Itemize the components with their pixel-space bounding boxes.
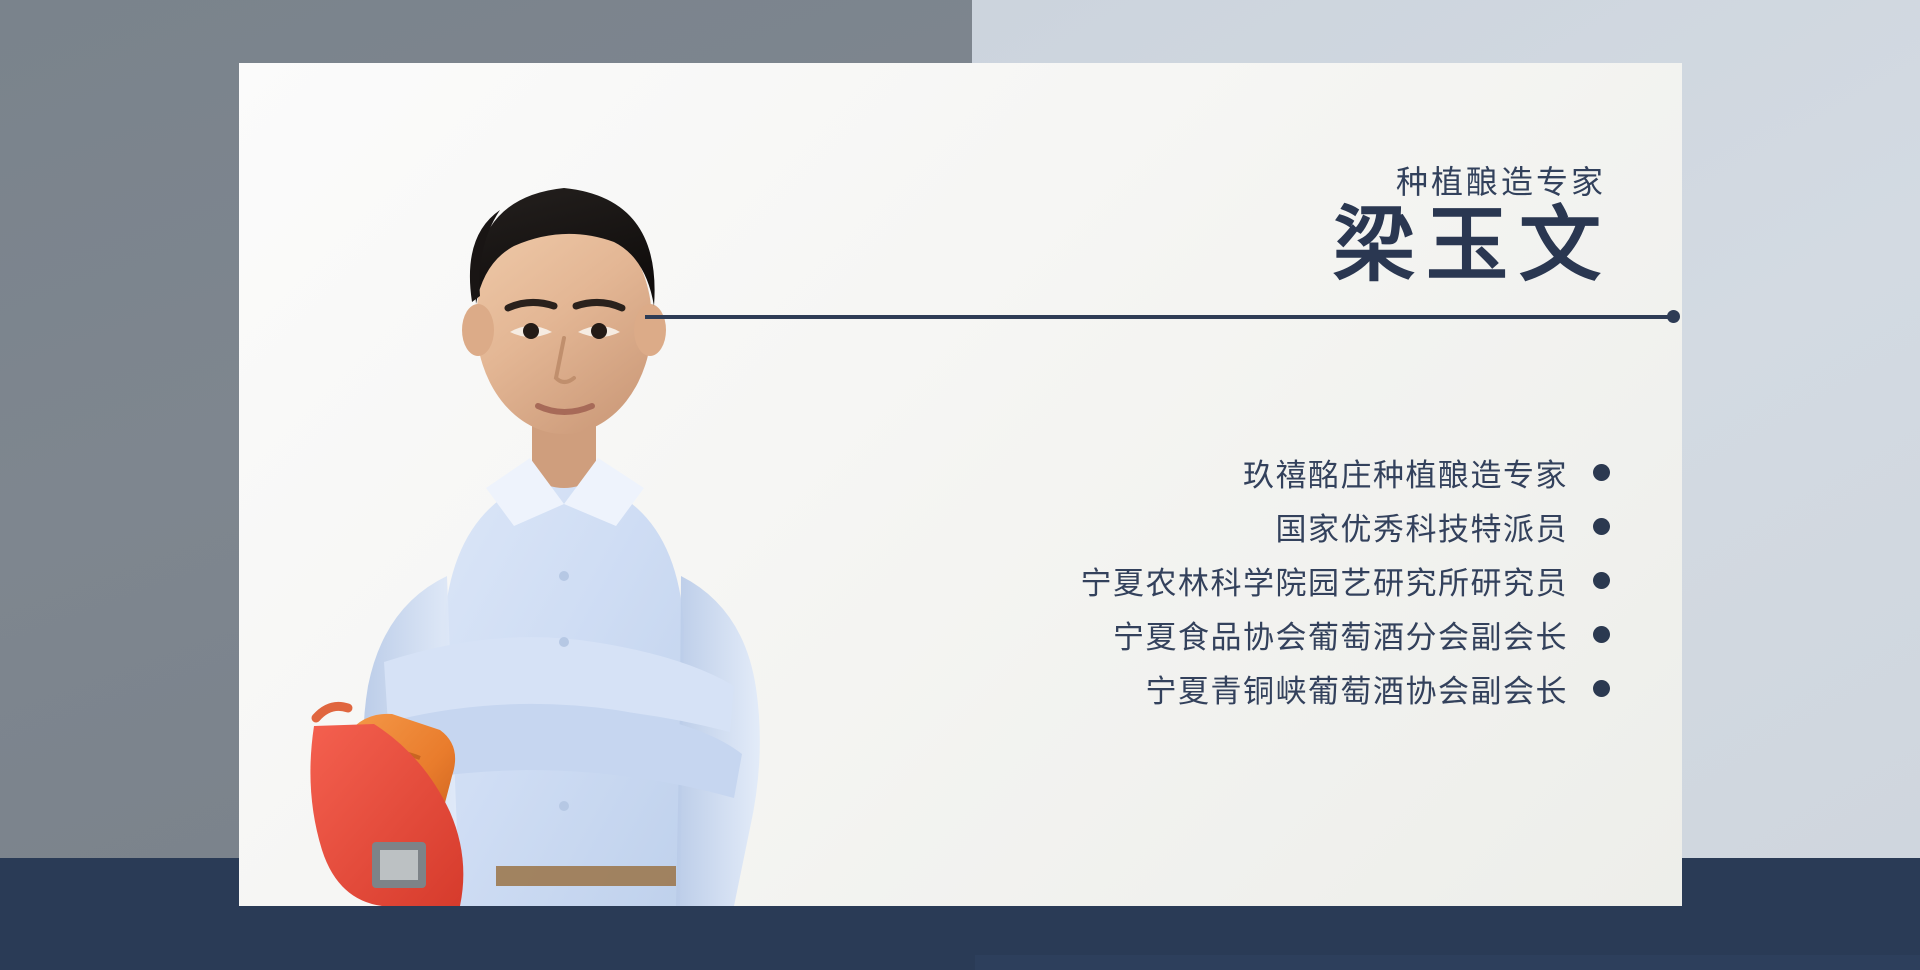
credential-label: 玖禧酩庄种植酿造专家: [1243, 450, 1568, 495]
bullet-dot-icon: [1593, 464, 1610, 481]
expert-name: 梁玉文: [1322, 203, 1612, 289]
credential-label: 国家优秀科技特派员: [1276, 504, 1569, 549]
background-navy-strip: [975, 955, 1920, 970]
credential-item: 宁夏青铜峡葡萄酒协会副会长: [1146, 661, 1611, 715]
credential-label: 宁夏食品协会葡萄酒分会副会长: [1113, 612, 1568, 657]
credential-item: 宁夏农林科学院园艺研究所研究员: [1081, 553, 1611, 607]
profile-card: 种植酿造专家 梁玉文 玖禧酩庄种植酿造专家 国家优秀科技特派员 宁夏农林科学院园…: [239, 63, 1682, 906]
credential-item: 国家优秀科技特派员: [1276, 499, 1611, 553]
bullet-dot-icon: [1593, 680, 1610, 697]
bullet-dot-icon: [1593, 572, 1610, 589]
bullet-dot-icon: [1593, 518, 1610, 535]
horizontal-divider: [645, 315, 1671, 319]
expert-portrait-photo: [264, 106, 854, 906]
credential-list: 玖禧酩庄种植酿造专家 国家优秀科技特派员 宁夏农林科学院园艺研究所研究员 宁夏食…: [1081, 445, 1611, 715]
divider-end-dot-icon: [1667, 310, 1680, 323]
credential-item: 宁夏食品协会葡萄酒分会副会长: [1113, 607, 1610, 661]
credential-item: 玖禧酩庄种植酿造专家: [1243, 445, 1610, 499]
bullet-dot-icon: [1593, 626, 1610, 643]
credential-label: 宁夏农林科学院园艺研究所研究员: [1081, 558, 1569, 603]
poster-stage: 种植酿造专家 梁玉文 玖禧酩庄种植酿造专家 国家优秀科技特派员 宁夏农林科学院园…: [0, 0, 1920, 970]
expert-subtitle: 种植酿造专家: [1396, 157, 1606, 203]
credential-label: 宁夏青铜峡葡萄酒协会副会长: [1146, 666, 1569, 711]
